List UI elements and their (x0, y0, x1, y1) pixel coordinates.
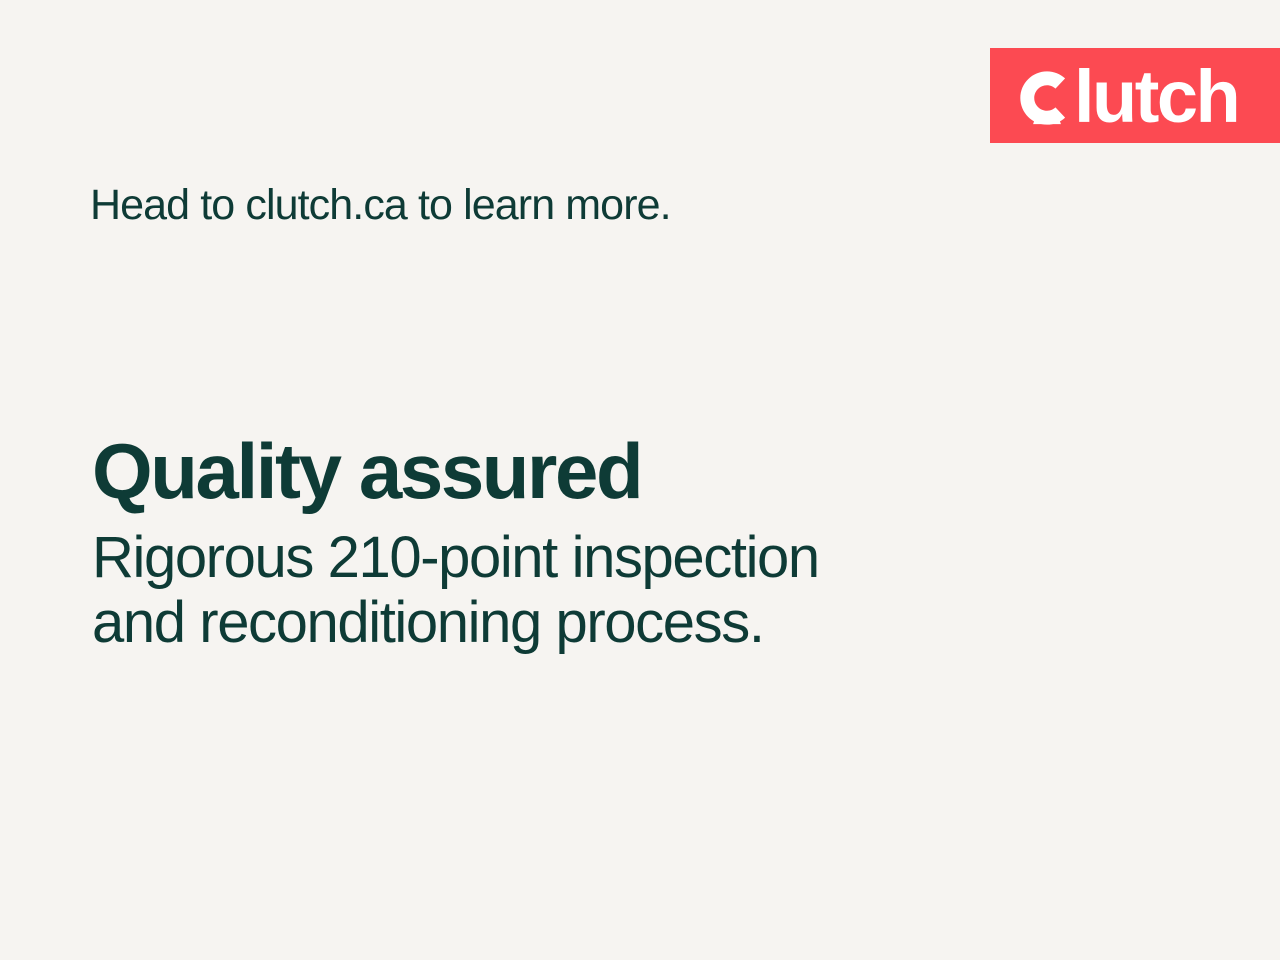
page-title: Quality assured (92, 432, 1072, 512)
tagline-text: Head to clutch.ca to learn more. (90, 181, 671, 229)
subcopy-line-2: and reconditioning process. (92, 591, 1072, 656)
subcopy-text: Rigorous 210-point inspection and recond… (92, 512, 1072, 656)
promo-slide: lutch Head to clutch.ca to learn more. Q… (0, 0, 1280, 960)
subcopy-line-1: Rigorous 210-point inspection (92, 526, 1072, 591)
main-copy-block: Quality assured Rigorous 210-point inspe… (92, 432, 1072, 655)
clutch-wordmark: lutch (1074, 60, 1238, 134)
clutch-logo-badge[interactable]: lutch (990, 48, 1280, 143)
clutch-c-wheel-icon (1018, 69, 1076, 127)
